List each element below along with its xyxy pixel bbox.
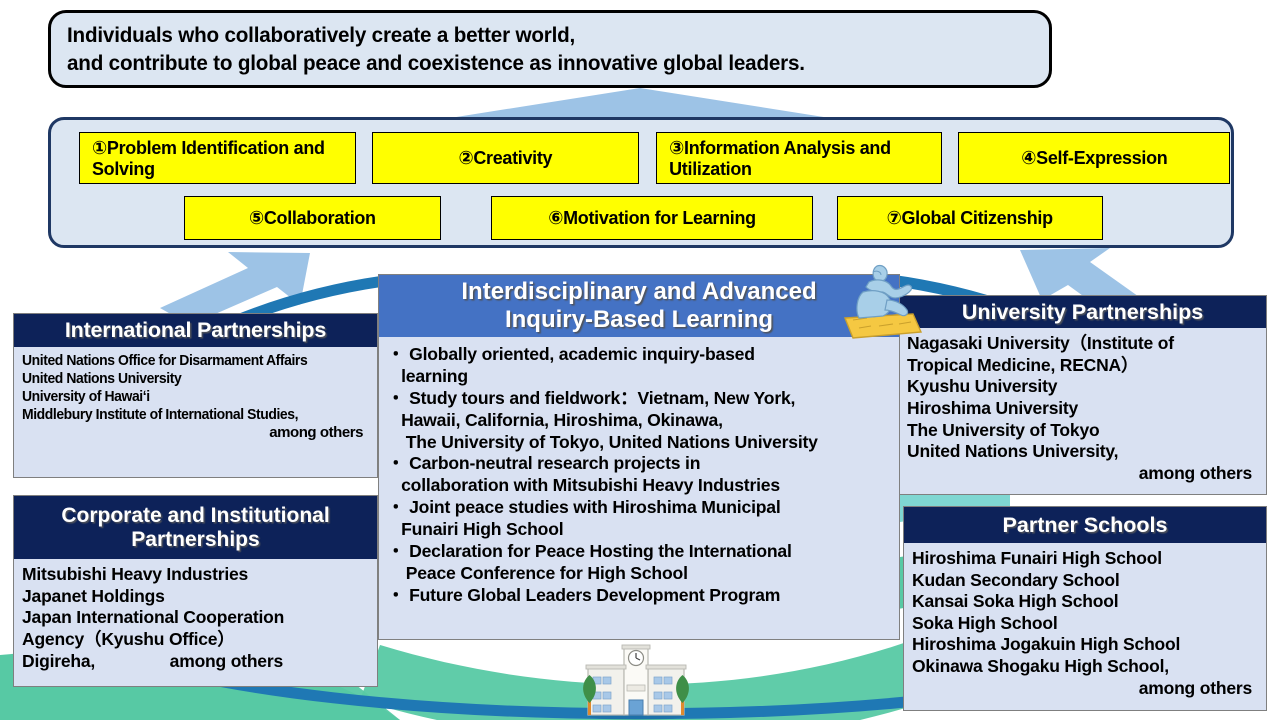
university-partnerships-title: University Partnerships: [899, 296, 1266, 328]
central-program-bullets: ・ Globally oriented, academic inquiry-ba…: [379, 337, 899, 607]
partner-schools-title: Partner Schools: [904, 507, 1266, 543]
among-others-note: among others: [22, 424, 369, 442]
list-item: United Nations University: [22, 370, 345, 388]
list-item: Hiroshima Funairi High School: [912, 548, 1258, 570]
partner-schools-card: Partner Schools Hiroshima Funairi High S…: [903, 506, 1267, 711]
list-item: Hiroshima Jogakuin High School: [912, 634, 1258, 656]
corporate-partnerships-card: Corporate and Institutional Partnerships…: [13, 495, 378, 687]
vision-statement-text: Individuals who collaboratively create a…: [67, 21, 805, 78]
central-program-card: Interdisciplinary and Advanced Inquiry-B…: [378, 274, 900, 640]
competency-label-5: ⑤Collaboration: [249, 207, 376, 228]
list-item: Japan International Cooperation: [22, 607, 369, 629]
list-item: Kyushu University: [907, 376, 1258, 398]
vision-statement-box: Individuals who collaboratively create a…: [48, 10, 1052, 88]
central-program-title-line1: Interdisciplinary and Advanced: [461, 278, 816, 306]
list-item: Hiroshima University: [907, 398, 1258, 420]
list-item: Japanet Holdings: [22, 586, 369, 608]
competency-label-6: ⑥Motivation for Learning: [548, 207, 756, 228]
competency-chip-3: ③Information Analysis and Utilization: [656, 132, 942, 184]
list-item: Nagasaki University（Institute of: [907, 333, 1258, 355]
diagram-canvas: Individuals who collaboratively create a…: [0, 0, 1280, 720]
list-item: Tropical Medicine, RECNA）: [907, 355, 1258, 377]
corporate-partnerships-title-line1: Corporate and Institutional: [61, 504, 329, 528]
competency-label-1: ①Problem Identification and Solving: [92, 137, 351, 180]
competencies-panel: ①Problem Identification and Solving ②Cre…: [48, 117, 1234, 248]
corporate-partnerships-body: Mitsubishi Heavy Industries Japanet Hold…: [14, 559, 377, 676]
university-partnerships-card: University Partnerships Nagasaki Univers…: [898, 295, 1267, 495]
school-building-icon: [572, 641, 700, 720]
international-partnerships-card: International Partnerships United Nation…: [13, 313, 378, 478]
peace-statue-icon: [833, 262, 925, 344]
list-item: ・ Study tours and fieldwork：Vietnam, New…: [387, 388, 889, 454]
university-partnerships-body: Nagasaki University（Institute of Tropica…: [899, 328, 1266, 489]
competency-label-7: ⑦Global Citizenship: [887, 207, 1053, 228]
corporate-partnerships-title-line2: Partnerships: [131, 528, 259, 552]
competency-label-4: ④Self-Expression: [1021, 147, 1167, 168]
competency-chip-1: ①Problem Identification and Solving: [79, 132, 356, 184]
list-item: Kudan Secondary School: [912, 570, 1258, 592]
central-program-title-line2: Inquiry-Based Learning: [505, 306, 773, 334]
list-item: ・ Joint peace studies with Hiroshima Mun…: [387, 497, 889, 541]
list-item: Kansai Soka High School: [912, 591, 1258, 613]
competency-chip-7: ⑦Global Citizenship: [837, 196, 1103, 240]
central-program-title: Interdisciplinary and Advanced Inquiry-B…: [379, 275, 899, 337]
competency-label-3: ③Information Analysis and Utilization: [669, 137, 937, 180]
competency-chip-6: ⑥Motivation for Learning: [491, 196, 813, 240]
list-item: Agency（Kyushu Office）: [22, 629, 369, 651]
corporate-partnerships-title: Corporate and Institutional Partnerships: [14, 496, 377, 559]
list-item: Mitsubishi Heavy Industries: [22, 564, 369, 586]
list-item: Soka High School: [912, 613, 1258, 635]
partner-schools-body: Hiroshima Funairi High School Kudan Seco…: [904, 543, 1266, 703]
among-others-note: among others: [912, 678, 1258, 700]
list-item: ・ Globally oriented, academic inquiry-ba…: [387, 344, 889, 388]
list-item: United Nations University,: [907, 441, 1258, 463]
competency-chip-5: ⑤Collaboration: [184, 196, 441, 240]
competency-chip-4: ④Self-Expression: [958, 132, 1230, 184]
list-item: ・ Declaration for Peace Hosting the Inte…: [387, 541, 889, 585]
competency-chip-2: ②Creativity: [372, 132, 639, 184]
international-partnerships-title: International Partnerships: [14, 314, 377, 347]
list-item: Middlebury Institute of International St…: [22, 406, 345, 424]
list-item: ・ Future Global Leaders Development Prog…: [387, 585, 889, 607]
list-item: Digireha, among others: [22, 651, 369, 673]
list-item: United Nations Office for Disarmament Af…: [22, 352, 345, 370]
list-item: ・ Carbon-neutral research projects in co…: [387, 453, 889, 497]
among-others-note: among others: [907, 463, 1258, 485]
international-partnerships-body: United Nations Office for Disarmament Af…: [14, 347, 377, 446]
list-item: Okinawa Shogaku High School,: [912, 656, 1258, 678]
list-item: The University of Tokyo: [907, 420, 1258, 442]
competency-label-2: ②Creativity: [459, 147, 553, 168]
list-item: University of Hawaiʻi: [22, 388, 345, 406]
